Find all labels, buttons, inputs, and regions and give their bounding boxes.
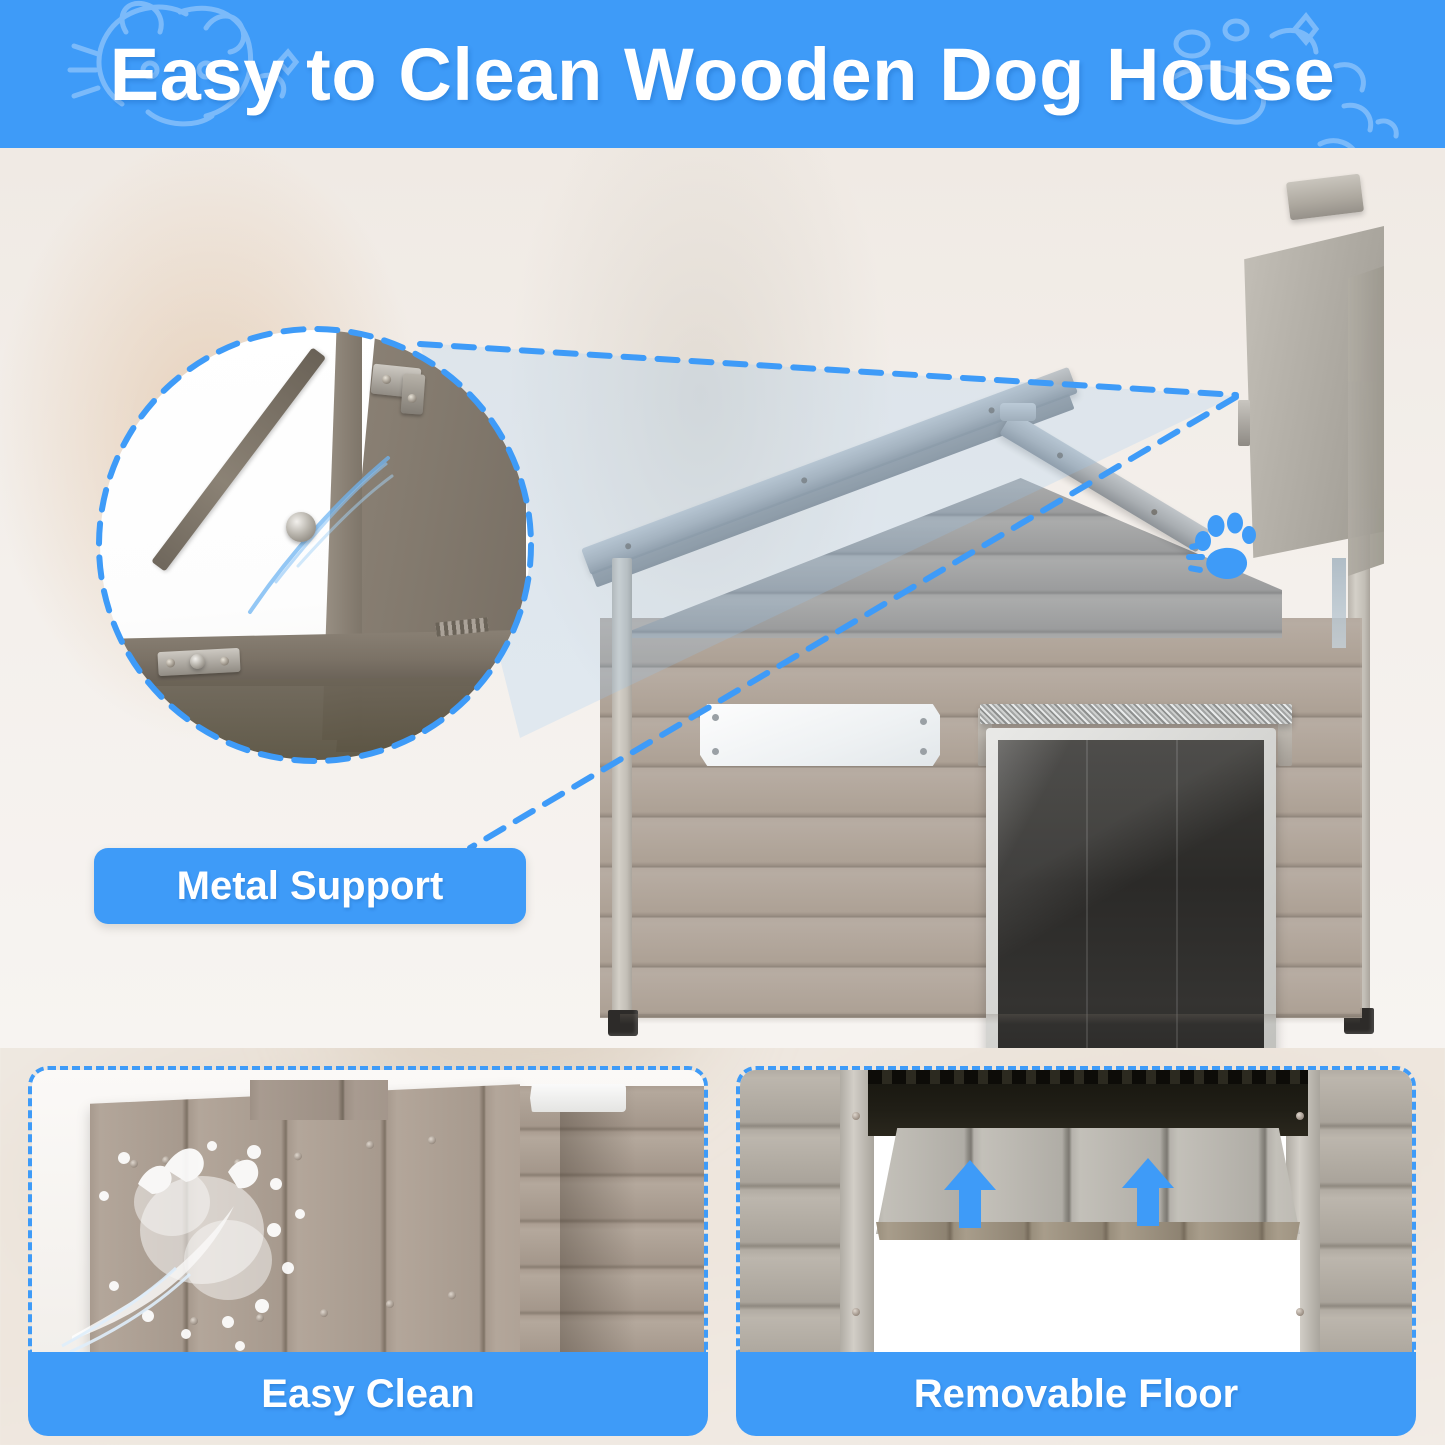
easy-clean-photo xyxy=(28,1066,708,1354)
metal-support-label: Metal Support xyxy=(94,848,526,924)
doghouse-door-flap[interactable] xyxy=(998,740,1264,1048)
easy-clean-wood-panels xyxy=(90,1084,520,1354)
removable-floor-right-wall xyxy=(1304,1070,1416,1354)
metal-support-label-text: Metal Support xyxy=(177,864,444,909)
removable-floor-gap xyxy=(876,1240,1300,1354)
doghouse-roof-ridge xyxy=(1000,403,1036,421)
hero-product-photo: Metal Support xyxy=(0,148,1445,1048)
header-banner: Easy to Clean Wooden Dog House xyxy=(0,0,1445,148)
easy-clean-panel-edge xyxy=(250,1080,388,1120)
doghouse-lid-gap xyxy=(1332,558,1346,648)
removable-floor-top-slats xyxy=(868,1070,1308,1084)
doghouse-door-frame[interactable] xyxy=(986,728,1276,1048)
page-title: Easy to Clean Wooden Dog House xyxy=(0,0,1445,148)
easy-clean-bracket xyxy=(530,1084,626,1112)
doghouse-lid-hinge xyxy=(1238,400,1250,446)
arrow-up-icon xyxy=(1118,1156,1178,1228)
product-infographic: Easy to Clean Wooden Dog House xyxy=(0,0,1445,1445)
doghouse-corner-post-left xyxy=(612,558,632,1018)
card-easy-clean: Easy Clean xyxy=(28,1066,708,1436)
doghouse-base-shadow xyxy=(620,1014,1360,1024)
removable-floor-photo xyxy=(736,1066,1416,1354)
card-removable-floor: Removable Floor xyxy=(736,1066,1416,1436)
magnifier-circle-outline xyxy=(92,322,538,768)
removable-floor-label-text: Removable Floor xyxy=(914,1372,1239,1417)
paw-print-icon xyxy=(1186,510,1266,588)
easy-clean-label: Easy Clean xyxy=(28,1352,708,1436)
doghouse-roof-lid-edge xyxy=(1348,266,1384,576)
doghouse-nameplate xyxy=(700,704,940,766)
easy-clean-wall-shadow xyxy=(560,1086,636,1354)
removable-floor-label: Removable Floor xyxy=(736,1352,1416,1436)
arrow-up-icon xyxy=(940,1158,1000,1230)
door-awning xyxy=(980,704,1292,724)
easy-clean-label-text: Easy Clean xyxy=(261,1372,474,1417)
